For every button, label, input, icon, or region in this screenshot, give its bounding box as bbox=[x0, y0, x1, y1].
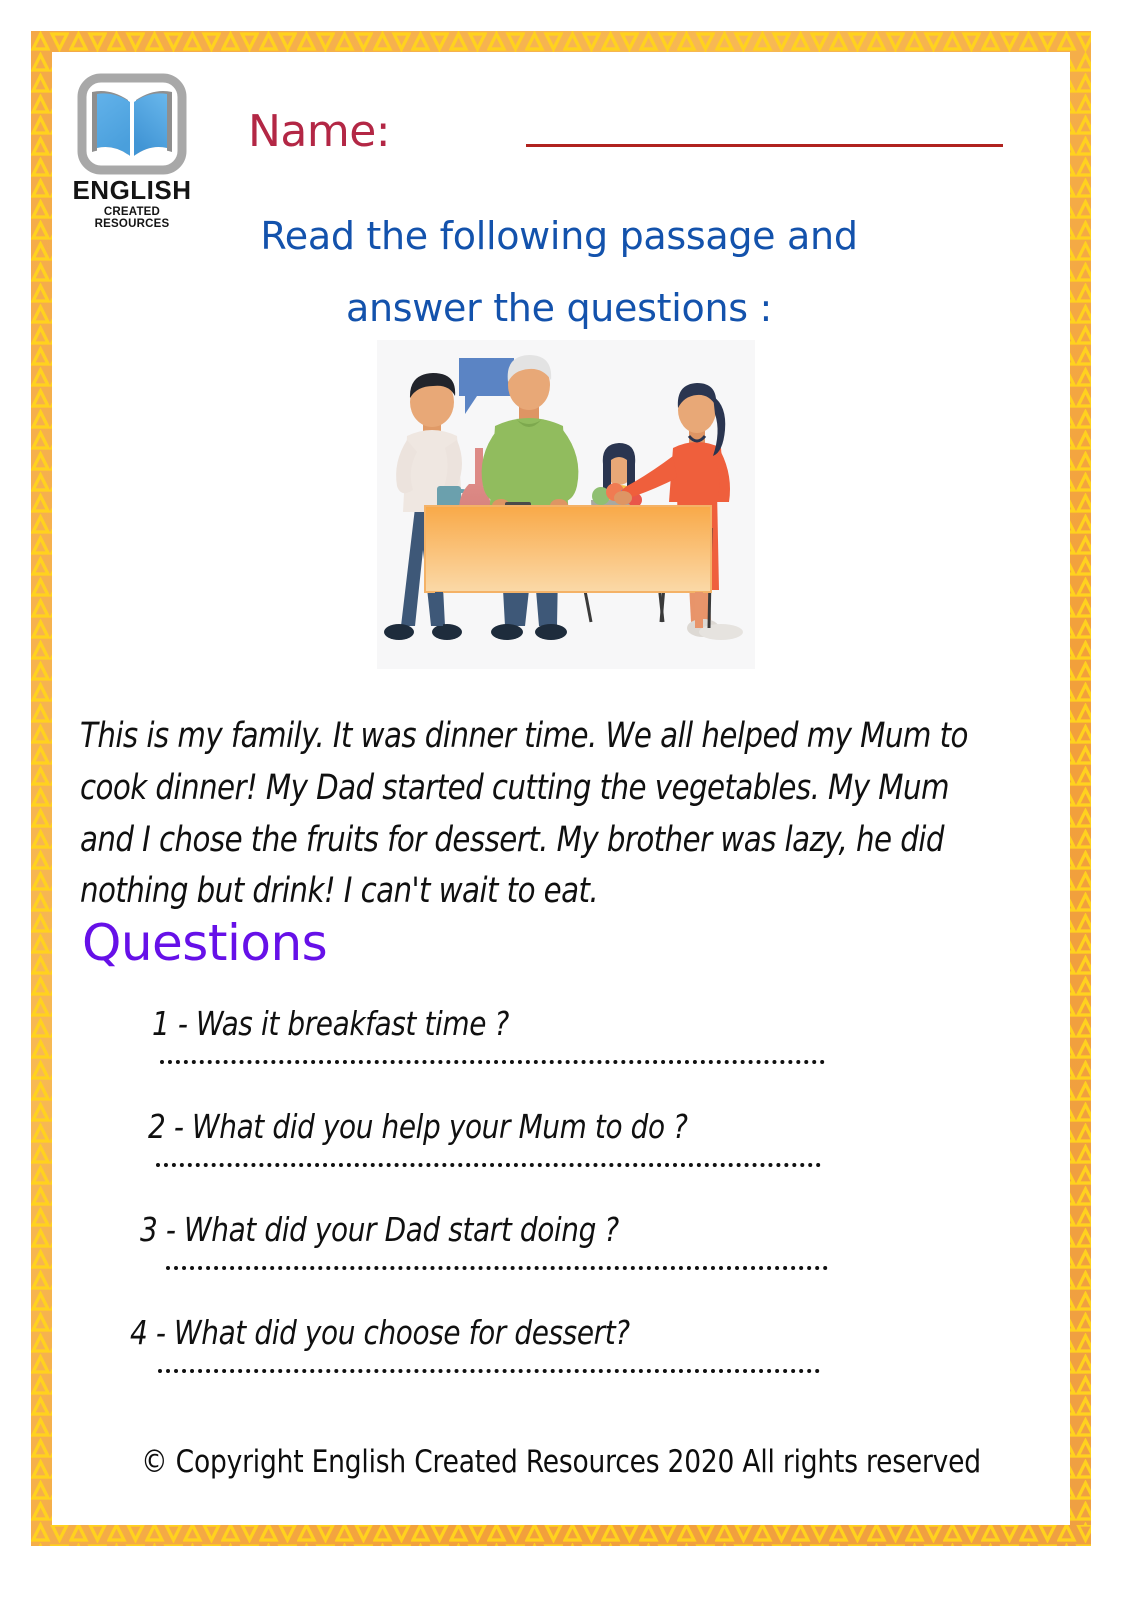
name-input-line[interactable] bbox=[526, 144, 1003, 147]
family-cooking-illustration bbox=[377, 340, 755, 669]
questions-heading: Questions bbox=[82, 918, 327, 968]
copyright-footer: © Copyright English Created Resources 20… bbox=[77, 1444, 1044, 1480]
answer-line-1[interactable] bbox=[160, 1055, 825, 1064]
question-item-2: 2 - What did you help your Mum to do ? bbox=[80, 1107, 1040, 1167]
answer-line-2[interactable] bbox=[156, 1158, 821, 1167]
open-book-icon bbox=[70, 72, 194, 176]
illustration-svg bbox=[377, 340, 755, 669]
question-item-1: 1 - Was it breakfast time ? bbox=[80, 1004, 1040, 1064]
worksheet-page: ENGLISH CREATED RESOURCES Name: Read the… bbox=[52, 52, 1070, 1525]
name-field-row: Name: bbox=[248, 110, 1038, 168]
instruction-text: Read the following passage and answer th… bbox=[114, 200, 1004, 344]
question-2-text: 2 - What did you help your Mum to do ? bbox=[148, 1107, 986, 1146]
question-item-3: 3 - What did your Dad start doing ? bbox=[80, 1210, 1040, 1270]
answer-line-4[interactable] bbox=[158, 1364, 820, 1373]
name-label: Name: bbox=[248, 110, 390, 154]
instruction-line-1: Read the following passage and bbox=[114, 200, 1004, 272]
question-item-4: 4 - What did you choose for dessert? bbox=[80, 1313, 1040, 1373]
answer-line-3[interactable] bbox=[166, 1261, 828, 1270]
brand-logo: ENGLISH CREATED RESOURCES bbox=[70, 72, 194, 212]
question-3-text: 3 - What did your Dad start doing ? bbox=[140, 1210, 986, 1249]
reading-passage: This is my family. It was dinner time. W… bbox=[80, 711, 987, 918]
question-4-text: 4 - What did you choose for dessert? bbox=[130, 1313, 985, 1352]
instruction-line-2: answer the questions : bbox=[114, 272, 1004, 344]
question-1-text: 1 - Was it breakfast time ? bbox=[152, 1004, 987, 1043]
